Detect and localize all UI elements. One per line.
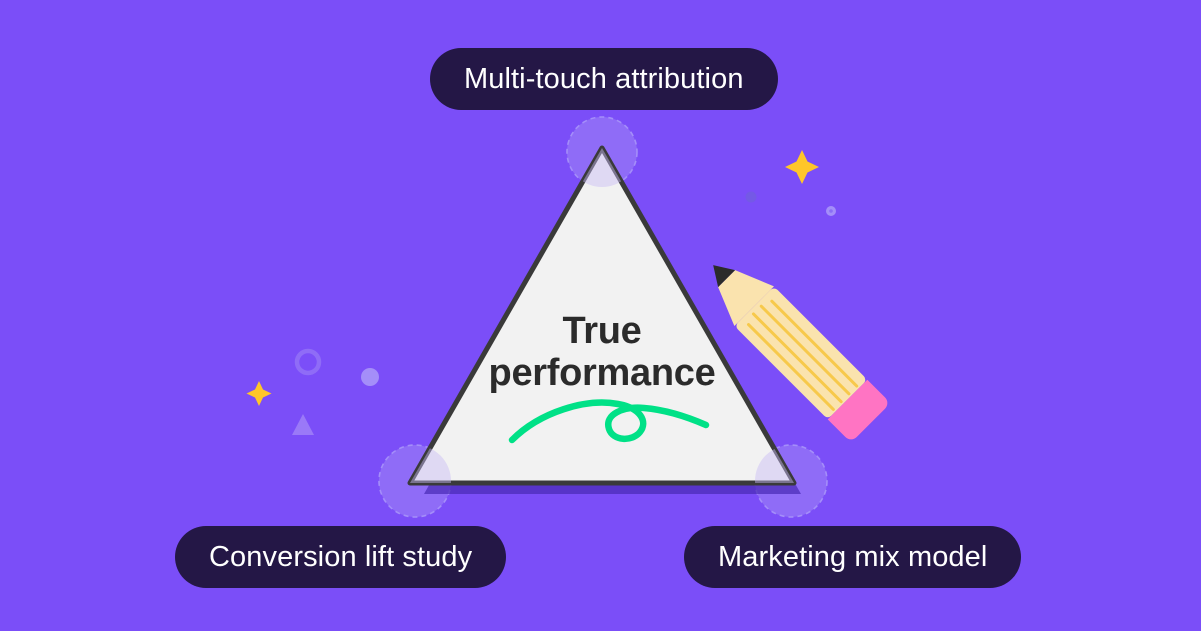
badge-marketing-mix-model[interactable]: Marketing mix model [684,526,1021,588]
dot-filled-left-icon [361,368,379,386]
badge-multi-touch-attribution[interactable]: Multi-touch attribution [430,48,778,110]
dot-dim-right-icon [746,192,757,203]
badge-conversion-lift-study[interactable]: Conversion lift study [175,526,506,588]
illustration-canvas: True performance Multi-touch attribution… [0,0,1201,631]
ring-small-right-inner [829,209,833,213]
